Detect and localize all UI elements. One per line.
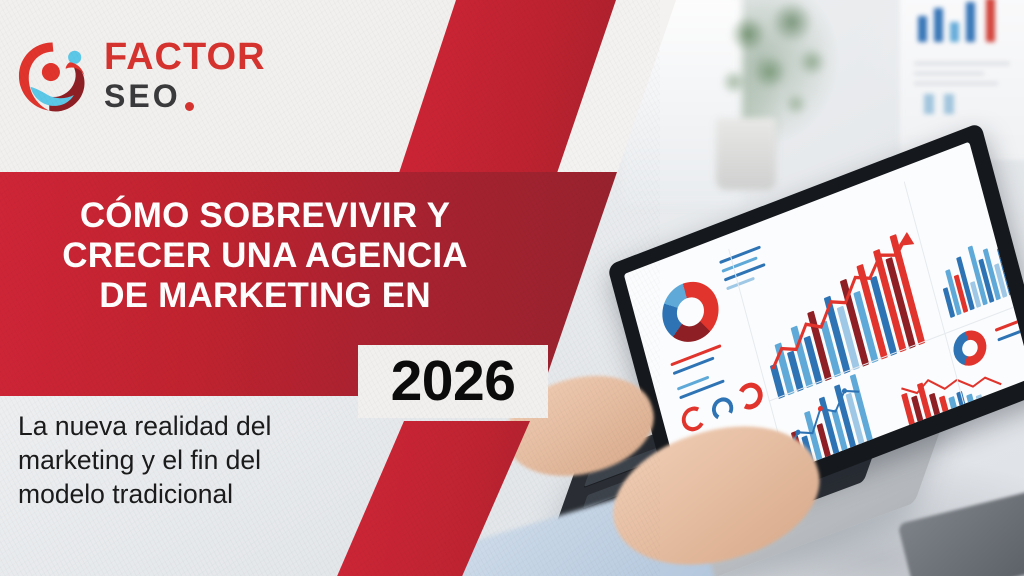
- logo-seo-label: SEO: [104, 78, 181, 114]
- year-badge-value: 2026: [358, 345, 548, 418]
- logo-wordmark: FACTOR SEO: [104, 38, 266, 112]
- brand-logo[interactable]: FACTOR SEO: [14, 32, 314, 128]
- poster-bar-2: [934, 8, 943, 42]
- subtitle-line-1: La nueva realidad del: [18, 410, 348, 444]
- year-badge: 2026: [358, 345, 548, 418]
- poster-line-3: [914, 82, 998, 85]
- subtitle: La nueva realidad del marketing y el fin…: [18, 410, 348, 512]
- gauge-ring-3: [735, 379, 766, 414]
- logo-dot-icon: [185, 102, 194, 111]
- poster-bar-4: [966, 2, 975, 42]
- headline-line-2: CRECER UNA AGENCIA: [0, 236, 530, 276]
- droplet-swirl-logo-icon: [14, 36, 96, 118]
- gauge-ring-1: [679, 403, 708, 435]
- gauge-ring-2: [709, 394, 735, 423]
- right-bar-chart-widget: [934, 227, 1024, 318]
- main-bar-chart-widget: [750, 226, 945, 399]
- poster-swatch-2: [944, 94, 954, 114]
- header-line-1: [719, 245, 761, 264]
- poster-bar-1: [918, 16, 927, 42]
- logo-seo-text: SEO: [104, 80, 181, 112]
- poster-swatch-1: [924, 94, 934, 114]
- poster-canvas: FACTOR SEO CÓMO SOBREVIVIR Y CRECER UNA …: [0, 0, 1024, 576]
- kpi-line-4: [679, 379, 725, 399]
- poster-line-1: [914, 62, 1010, 65]
- poster-bar-3: [950, 22, 959, 42]
- plant-pot: [716, 118, 776, 190]
- subtitle-line-3: modelo tradicional: [18, 478, 348, 512]
- poster-bar-5: [986, 0, 995, 42]
- headline-line-3: DE MARKETING EN: [0, 276, 530, 316]
- headline-line-1: CÓMO SOBREVIVIR Y: [0, 196, 530, 236]
- trend-arrow-icon: [750, 226, 945, 399]
- logo-factor-text: FACTOR: [104, 38, 266, 76]
- poster-line-2: [914, 72, 984, 75]
- page-title: CÓMO SOBREVIVIR Y CRECER UNA AGENCIA DE …: [0, 196, 530, 316]
- subtitle-line-2: marketing y el fin del: [18, 444, 348, 478]
